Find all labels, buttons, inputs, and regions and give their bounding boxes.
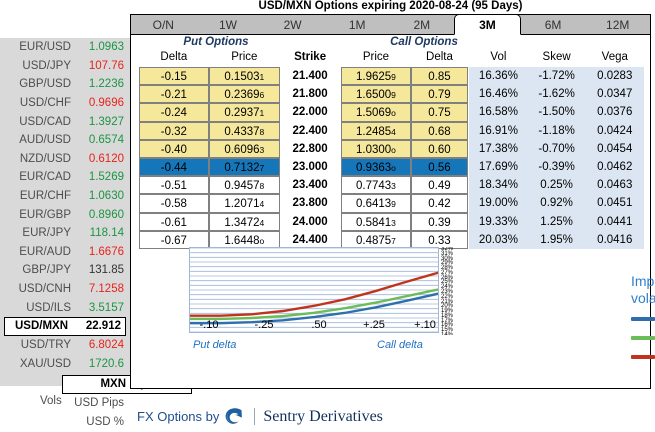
rate-pair-label: XAU/USD [11, 358, 71, 370]
tab-1m[interactable]: 1M [325, 15, 390, 34]
cell-value: 0.5841 [356, 217, 391, 229]
cell-skew: -0.39% [528, 158, 586, 176]
cell-vega: 0.0347 [586, 85, 644, 103]
cell-vol: 17.69% [469, 158, 527, 176]
cell-vol: 16.58% [469, 103, 527, 121]
cell-value-subdigit: 8 [260, 181, 265, 191]
call-options-header: Call Options [349, 36, 499, 48]
rate-row-usd-cad[interactable]: USD/CAD1.3927 [0, 112, 130, 131]
cell-call_price: 0.64139 [341, 194, 411, 212]
cell-value: 0.6096 [224, 144, 259, 156]
cell-skew: 1.95% [528, 231, 586, 249]
cell-value: 1.2485 [356, 126, 391, 138]
page-title: USD/MXN Options expiring 2020-08-24 (95 … [130, 0, 651, 14]
rate-pair-label: USD/TRY [11, 339, 71, 351]
put-delta-axis-label: Put delta [193, 339, 236, 351]
cell-value-subdigit: o [260, 236, 265, 246]
rate-pair-label: EUR/AUD [11, 246, 71, 258]
rate-row-nzd-usd[interactable]: NZD/USD0.6120 [0, 150, 130, 169]
cell-value-subdigit: 3 [260, 145, 265, 155]
fx-options-screen: USD/MXN Options expiring 2020-08-24 (95 … [0, 0, 655, 429]
rate-pair-label: USD/ILS [11, 302, 71, 314]
y-tick-18: 14% [441, 333, 453, 335]
cell-put_delta: -0.24 [139, 103, 209, 121]
rate-value: 1720.6 [79, 358, 124, 370]
cell-value-subdigit: o [391, 163, 396, 173]
unit-option-label: USD Pips [74, 397, 124, 409]
rate-value: 107.76 [79, 60, 124, 72]
cell-value-subdigit: 6 [260, 90, 265, 100]
series-month-ago [190, 273, 438, 316]
cell-value-subdigit: 8 [260, 127, 265, 137]
call-delta-axis-label: Call delta [377, 339, 423, 351]
cell-put_price: 0.23696 [209, 85, 279, 103]
tab-3m[interactable]: 3M [454, 14, 521, 35]
table-row[interactable]: -0.440.7132723.0000.9363o0.5617.69%-0.39… [131, 158, 650, 176]
x-tick-4: +.10 [407, 319, 443, 331]
rate-row-eur-gbp[interactable]: EUR/GBP0.8960 [0, 205, 130, 224]
cell-vol: 19.33% [469, 213, 527, 231]
cell-call_price: 0.9363o [341, 158, 411, 176]
put-options-header: Put Options [141, 36, 291, 48]
rate-value: 7.1258 [79, 283, 124, 295]
table-row[interactable]: -0.210.2369621.8001.650090.7916.46%-1.62… [131, 85, 650, 103]
rates-list: EUR/USD1.0963USD/JPY107.76GBP/USD1.2236U… [0, 38, 130, 373]
cell-put_price: 0.71327 [209, 158, 279, 176]
footer: FX Options by Sentry Derivatives [137, 407, 383, 426]
rate-value: 118.14 [79, 227, 124, 239]
cell-value-subdigit: 9 [391, 90, 396, 100]
cell-call_price: 1.24854 [341, 122, 411, 140]
rate-row-usd-cnh[interactable]: USD/CNH7.1258 [0, 280, 130, 299]
column-header-price-3: Price [341, 51, 411, 63]
chart-legend: Implied volatility CurrentWeek agoMonth … [631, 273, 655, 364]
cell-value: 0.1503 [224, 71, 259, 83]
cell-skew: -1.50% [528, 103, 586, 121]
cell-value-subdigit: 4 [260, 218, 265, 228]
cell-put_price: 0.43378 [209, 122, 279, 140]
cell-vol: 20.03% [469, 231, 527, 249]
legend-swatch [631, 336, 655, 340]
rate-row-xau-usd[interactable]: XAU/USD1720.6 [0, 355, 130, 374]
rate-value: 1.5269 [79, 171, 124, 183]
cell-value: 1.0300 [356, 144, 391, 156]
rate-pair-label: USD/JPY [11, 60, 71, 72]
cell-value: 0.6413 [356, 198, 391, 210]
rate-value: 131.85 [79, 264, 124, 276]
tab-6m[interactable]: 6M [521, 15, 586, 34]
cell-value-subdigit: o [391, 108, 396, 118]
cell-call_delta: 0.56 [411, 158, 468, 176]
cell-value: 1.3472 [224, 217, 259, 229]
cell-skew: -1.62% [528, 85, 586, 103]
cell-strike: 23.800 [281, 194, 339, 212]
x-tick-2: .50 [301, 319, 337, 331]
unit-option-usd-pips[interactable]: USD Pips [0, 394, 130, 413]
cell-value-subdigit: 3 [391, 218, 396, 228]
cell-value: 1.2071 [224, 198, 259, 210]
cell-value-subdigit: 7 [391, 236, 396, 246]
cell-value: 0.2937 [224, 107, 259, 119]
tab-1w[interactable]: 1W [196, 15, 261, 34]
cell-value-subdigit: 4 [391, 127, 396, 137]
rate-value: 1.2236 [79, 78, 124, 90]
cell-strike: 23.000 [281, 158, 339, 176]
rate-value: 0.6120 [79, 153, 124, 165]
cell-put_delta: -0.58 [139, 194, 209, 212]
rate-pair-label: USD/MXN [10, 320, 68, 332]
column-header-delta-4: Delta [411, 51, 468, 63]
cell-strike: 22.400 [281, 122, 339, 140]
vol-smile-chart: -.10-.25.50+.25+.10 32%31%30%29%28%27%26… [189, 247, 469, 347]
cell-value-subdigit: 3 [391, 181, 396, 191]
cell-call_delta: 0.75 [411, 103, 468, 121]
rate-row-usd-mxn[interactable]: USD/MXN22.912 [4, 317, 126, 336]
cell-call_price: 1.5069o [341, 103, 411, 121]
rate-value: 3.5157 [79, 302, 124, 314]
rate-pair-label: EUR/USD [11, 41, 71, 53]
rate-value: 0.9696 [79, 97, 124, 109]
cell-skew: -1.72% [528, 67, 586, 85]
cell-skew: 0.25% [528, 176, 586, 194]
cell-skew: 0.92% [528, 194, 586, 212]
cell-call_delta: 0.39 [411, 213, 468, 231]
cell-call_delta: 0.68 [411, 122, 468, 140]
footer-brand: Sentry Derivatives [263, 408, 383, 426]
rate-row-eur-chf[interactable]: EUR/CHF1.0630 [0, 187, 130, 206]
column-header-vol-5: Vol [469, 51, 527, 63]
cell-call_price: 1.65009 [341, 85, 411, 103]
rate-row-eur-usd[interactable]: EUR/USD1.0963 [0, 38, 130, 57]
cell-strike: 21.800 [281, 85, 339, 103]
column-header-skew-6: Skew [528, 51, 586, 63]
rate-pair-label: GBP/USD [11, 78, 71, 90]
cell-put_delta: -0.32 [139, 122, 209, 140]
cell-vega: 0.0454 [586, 140, 644, 158]
cell-vega: 0.0283 [586, 67, 644, 85]
cell-vega: 0.0416 [586, 231, 644, 249]
cell-vol: 19.00% [469, 194, 527, 212]
legend-item-week-ago[interactable]: Week ago [631, 331, 655, 345]
rate-pair-label: USD/CAD [11, 116, 71, 128]
rate-value: 1.0963 [79, 41, 124, 53]
cell-put_price: 1.34724 [209, 213, 279, 231]
cell-vega: 0.0462 [586, 158, 644, 176]
cell-put_delta: -0.15 [139, 67, 209, 85]
cell-value: 0.7132 [224, 162, 259, 174]
rate-row-eur-cad[interactable]: EUR/CAD1.5269 [0, 168, 130, 187]
rate-pair-label: USD/CNH [11, 283, 71, 295]
rate-value: 0.6574 [79, 134, 124, 146]
table-row[interactable]: -0.400.6096322.8001.0300o0.6017.38%-0.70… [131, 140, 650, 158]
rate-row-aud-usd[interactable]: AUD/USD0.6574 [0, 131, 130, 150]
footer-divider [254, 408, 255, 425]
cell-put_price: 0.15031 [209, 67, 279, 85]
tab-12m[interactable]: 12M [585, 15, 650, 34]
rate-value: 0.8960 [79, 209, 124, 221]
cell-value: 0.4875 [356, 235, 391, 247]
cell-strike: 23.400 [281, 176, 339, 194]
rate-value: 22.912 [76, 320, 121, 332]
cell-call_delta: 0.85 [411, 67, 468, 85]
cell-put_delta: -0.40 [139, 140, 209, 158]
rate-pair-label: EUR/GBP [11, 209, 71, 221]
column-header-strike-2: Strike [281, 51, 339, 63]
cell-value: 0.4337 [224, 126, 259, 138]
cell-value-subdigit: 9 [391, 199, 396, 209]
rate-pair-label: EUR/JPY [11, 227, 71, 239]
rate-value: 1.3927 [79, 116, 124, 128]
cell-put_price: 1.20714 [209, 194, 279, 212]
cell-put_price: 0.94578 [209, 176, 279, 194]
cell-put_delta: -0.44 [139, 158, 209, 176]
table-row[interactable]: -0.240.2937122.0001.5069o0.7516.58%-1.50… [131, 103, 650, 121]
group-headers: Put Options Call Options [131, 36, 650, 51]
table-row[interactable]: -0.581.2071423.8000.641390.4219.00%0.92%… [131, 194, 650, 212]
rate-row-gbp-usd[interactable]: GBP/USD1.2236 [0, 75, 130, 94]
cell-put_price: 0.60963 [209, 140, 279, 158]
cell-vega: 0.0441 [586, 213, 644, 231]
cell-call_delta: 0.49 [411, 176, 468, 194]
column-headers: DeltaPriceStrikePriceDeltaVolSkewVega [131, 51, 650, 67]
tab-on[interactable]: O/N [131, 15, 196, 34]
cell-call_price: 1.96259 [341, 67, 411, 85]
cell-value-subdigit: 1 [260, 108, 265, 118]
rate-value: 1.6676 [79, 246, 124, 258]
rate-value: 6.8024 [79, 339, 124, 351]
tab-2w[interactable]: 2W [260, 15, 325, 34]
cell-vega: 0.0451 [586, 194, 644, 212]
rate-row-usd-chf[interactable]: USD/CHF0.9696 [0, 94, 130, 113]
rate-pair-label: NZD/USD [11, 153, 71, 165]
rate-row-gbp-jpy[interactable]: GBP/JPY131.85 [0, 261, 130, 280]
rates-sidebar: EUR/USD1.0963USD/JPY107.76GBP/USD1.2236U… [0, 38, 130, 386]
cell-value-subdigit: 9 [391, 72, 396, 82]
rate-row-usd-try[interactable]: USD/TRY6.8024 [0, 336, 130, 355]
tab-2m[interactable]: 2M [390, 15, 455, 34]
x-tick-3: +.25 [356, 319, 392, 331]
column-header-price-1: Price [209, 51, 279, 63]
cell-put_price: 0.29371 [209, 103, 279, 121]
footer-prefix: FX Options by [137, 409, 219, 424]
cell-vega: 0.0463 [586, 176, 644, 194]
cell-call_delta: 0.60 [411, 140, 468, 158]
unit-option-label: USD % [86, 416, 124, 428]
cell-call_delta: 0.79 [411, 85, 468, 103]
cell-put_delta: -0.21 [139, 85, 209, 103]
cell-skew: -0.70% [528, 140, 586, 158]
cell-value: 1.6500 [356, 89, 391, 101]
cell-value-subdigit: o [391, 145, 396, 155]
cell-vega: 0.0424 [586, 122, 644, 140]
cell-value: 0.9363 [356, 162, 391, 174]
legend-swatch [631, 317, 655, 321]
x-tick-0: -.10 [191, 319, 227, 331]
options-panel: O/N1W2W1M2M3M6M12M Put Options Call Opti… [130, 14, 651, 389]
rate-row-eur-jpy[interactable]: EUR/JPY118.14 [0, 224, 130, 243]
cell-value-subdigit: 4 [260, 199, 265, 209]
tenor-tabs[interactable]: O/N1W2W1M2M3M6M12M [131, 15, 650, 35]
cell-vol: 16.36% [469, 67, 527, 85]
rate-pair-label: EUR/CAD [11, 171, 71, 183]
options-grid: -0.150.1503121.4001.962590.8516.36%-1.72… [131, 67, 650, 249]
table-row[interactable]: -0.150.1503121.4001.962590.8516.36%-1.72… [131, 67, 650, 85]
table-row[interactable]: -0.611.3472424.0000.584130.3919.33%1.25%… [131, 213, 650, 231]
cell-vol: 16.46% [469, 85, 527, 103]
rate-row-usd-jpy[interactable]: USD/JPY107.76 [0, 57, 130, 76]
cell-call_price: 1.0300o [341, 140, 411, 158]
cell-strike: 21.400 [281, 67, 339, 85]
cell-value: 1.9625 [356, 71, 391, 83]
chart-y-ticks: 32%31%30%29%28%27%26%25%24%23%22%21%20%1… [441, 247, 467, 335]
legend-item-current[interactable]: Current [631, 312, 655, 326]
legend-title: Implied volatility [631, 273, 655, 307]
cell-call_price: 0.58413 [341, 213, 411, 231]
cell-strike: 22.800 [281, 140, 339, 158]
legend-item-month-ago[interactable]: Month ago [631, 350, 655, 364]
cell-vol: 18.34% [469, 176, 527, 194]
column-header-vega-7: Vega [586, 51, 644, 63]
cell-call_delta: 0.42 [411, 194, 468, 212]
column-header-delta-0: Delta [139, 51, 209, 63]
cell-vol: 16.91% [469, 122, 527, 140]
table-row[interactable]: -0.320.4337822.4001.248540.6816.91%-1.18… [131, 122, 650, 140]
cell-strike: 24.000 [281, 213, 339, 231]
cell-value: 0.7743 [356, 180, 391, 192]
rate-row-usd-ils[interactable]: USD/ILS3.5157 [0, 298, 130, 317]
rate-pair-label: EUR/CHF [11, 190, 71, 202]
sentry-logo-icon [224, 407, 246, 426]
cell-value: 1.6448 [224, 235, 259, 247]
cell-value: 0.2369 [224, 89, 259, 101]
legend-swatch [631, 355, 655, 359]
cell-call_price: 0.77433 [341, 176, 411, 194]
cell-value-subdigit: 1 [260, 72, 265, 82]
table-row[interactable]: -0.510.9457823.4000.774330.4918.34%0.25%… [131, 176, 650, 194]
cell-value-subdigit: 7 [260, 163, 265, 173]
cell-put_delta: -0.61 [139, 213, 209, 231]
rate-value: 1.0630 [79, 190, 124, 202]
cell-value: 1.5069 [356, 107, 391, 119]
rate-pair-label: GBP/JPY [11, 264, 71, 276]
cell-vega: 0.0376 [586, 103, 644, 121]
cell-strike: 22.000 [281, 103, 339, 121]
x-tick-1: -.25 [246, 319, 282, 331]
cell-value: 0.9457 [224, 180, 259, 192]
cell-put_delta: -0.51 [139, 176, 209, 194]
cell-vol: 17.38% [469, 140, 527, 158]
rate-pair-label: AUD/USD [11, 134, 71, 146]
cell-skew: -1.18% [528, 122, 586, 140]
cell-skew: 1.25% [528, 213, 586, 231]
legend-items: CurrentWeek agoMonth ago [631, 312, 655, 364]
rate-pair-label: USD/CHF [11, 97, 71, 109]
rate-row-eur-aud[interactable]: EUR/AUD1.6676 [0, 243, 130, 262]
